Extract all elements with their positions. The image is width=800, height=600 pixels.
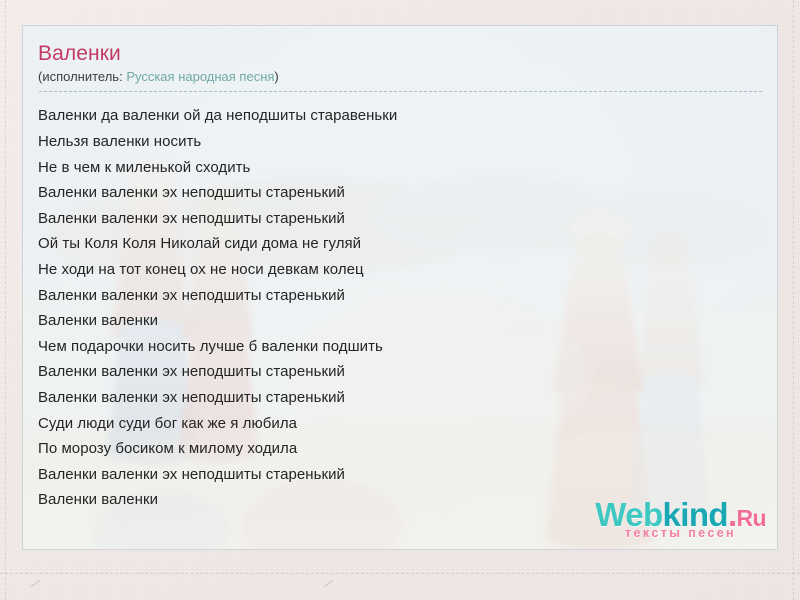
- logo-part-ru: Ru: [737, 505, 766, 531]
- lyric-line: По морозу босиком к милому ходила: [38, 436, 763, 462]
- lyrics-content-panel: Валенки (исполнитель: Русская народная п…: [22, 25, 778, 550]
- lyric-line: Валенки валенки эх неподшиты старенький: [38, 283, 763, 309]
- lyrics-text: Валенки да валенки ой да неподшиты стара…: [38, 103, 763, 513]
- artist-prefix-label: (исполнитель:: [38, 69, 123, 84]
- lyric-line: Не в чем к миленькой сходить: [38, 155, 763, 181]
- lyric-line: Валенки валенки: [38, 308, 763, 334]
- artist-link[interactable]: Русская народная песня: [126, 69, 274, 84]
- lyric-line: Не ходи на тот конец ох не носи девкам к…: [38, 257, 763, 283]
- page-title: Валенки: [38, 42, 763, 66]
- lyric-line: Валенки да валенки ой да неподшиты стара…: [38, 103, 763, 129]
- lyric-line: Ой ты Коля Коля Николай сиди дома не гул…: [38, 231, 763, 257]
- backdrop-dashed-rule-left: [5, 0, 6, 600]
- backdrop-dashed-rule-right: [793, 0, 794, 600]
- artist-line: (исполнитель: Русская народная песня): [38, 69, 763, 91]
- site-logo[interactable]: Webkind.Ru тексты песен: [595, 498, 766, 540]
- header-divider: [39, 91, 762, 92]
- lyric-line: Валенки валенки эх неподшиты старенький: [38, 385, 763, 411]
- lyric-line: Суди люди суди бог как же я любила: [38, 411, 763, 437]
- lyric-line: Чем подарочки носить лучше б валенки под…: [38, 334, 763, 360]
- lyric-line: Валенки валенки эх неподшиты старенький: [38, 359, 763, 385]
- lyric-line: Валенки валенки эх неподшиты старенький: [38, 180, 763, 206]
- lyric-line: Валенки валенки эх неподшиты старенький: [38, 462, 763, 488]
- backdrop-dashed-rule-bottom: [0, 573, 800, 574]
- artist-suffix-label: ): [274, 69, 278, 84]
- song-header: Валенки (исполнитель: Русская народная п…: [38, 42, 763, 92]
- lyric-line: Нельзя валенки носить: [38, 129, 763, 155]
- lyric-line: Валенки валенки эх неподшиты старенький: [38, 206, 763, 232]
